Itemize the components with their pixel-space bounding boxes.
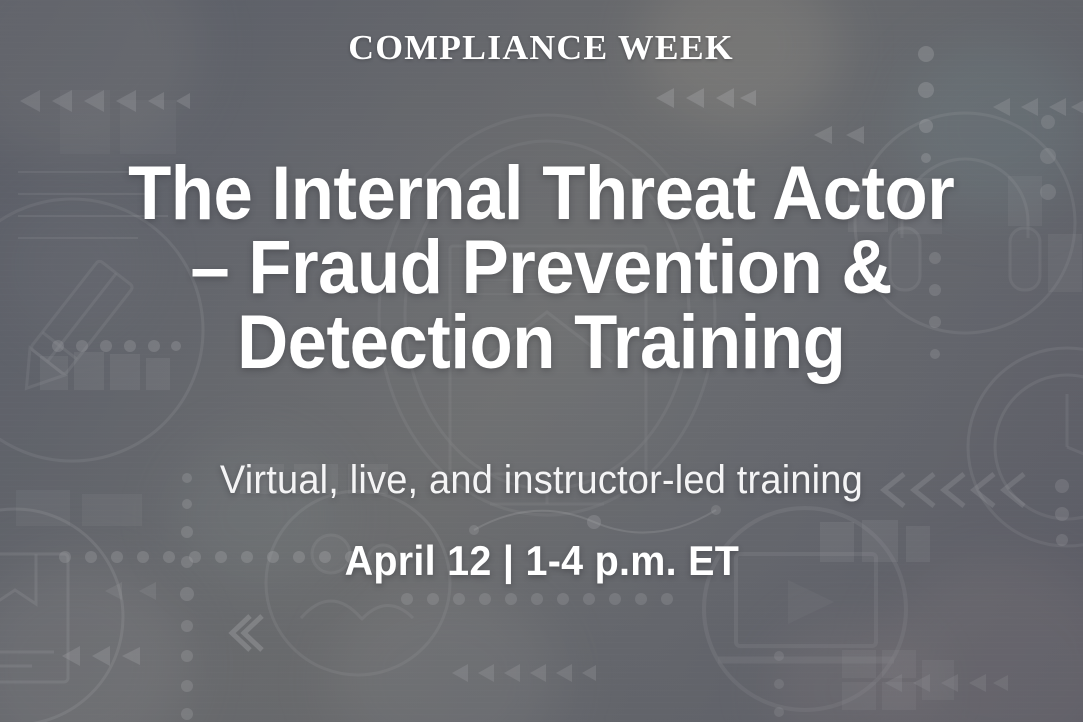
compliance-week-logo: COMPLIANCE WEEK: [349, 30, 735, 65]
banner-content: COMPLIANCE WEEK The Internal Threat Acto…: [0, 0, 1083, 722]
event-date-time: April 12 | 1-4 p.m. ET: [344, 540, 739, 582]
subtitle-text: Virtual, live, and instructor-led traini…: [220, 460, 863, 500]
headline-line-1: The Internal Threat Actor: [128, 157, 954, 231]
page-title: The Internal Threat Actor – Fraud Preven…: [128, 157, 954, 380]
headline-line-3: Detection Training: [128, 306, 954, 380]
headline-line-2: – Fraud Prevention &: [128, 231, 954, 305]
promo-banner: COMPLIANCE WEEK The Internal Threat Acto…: [0, 0, 1083, 722]
